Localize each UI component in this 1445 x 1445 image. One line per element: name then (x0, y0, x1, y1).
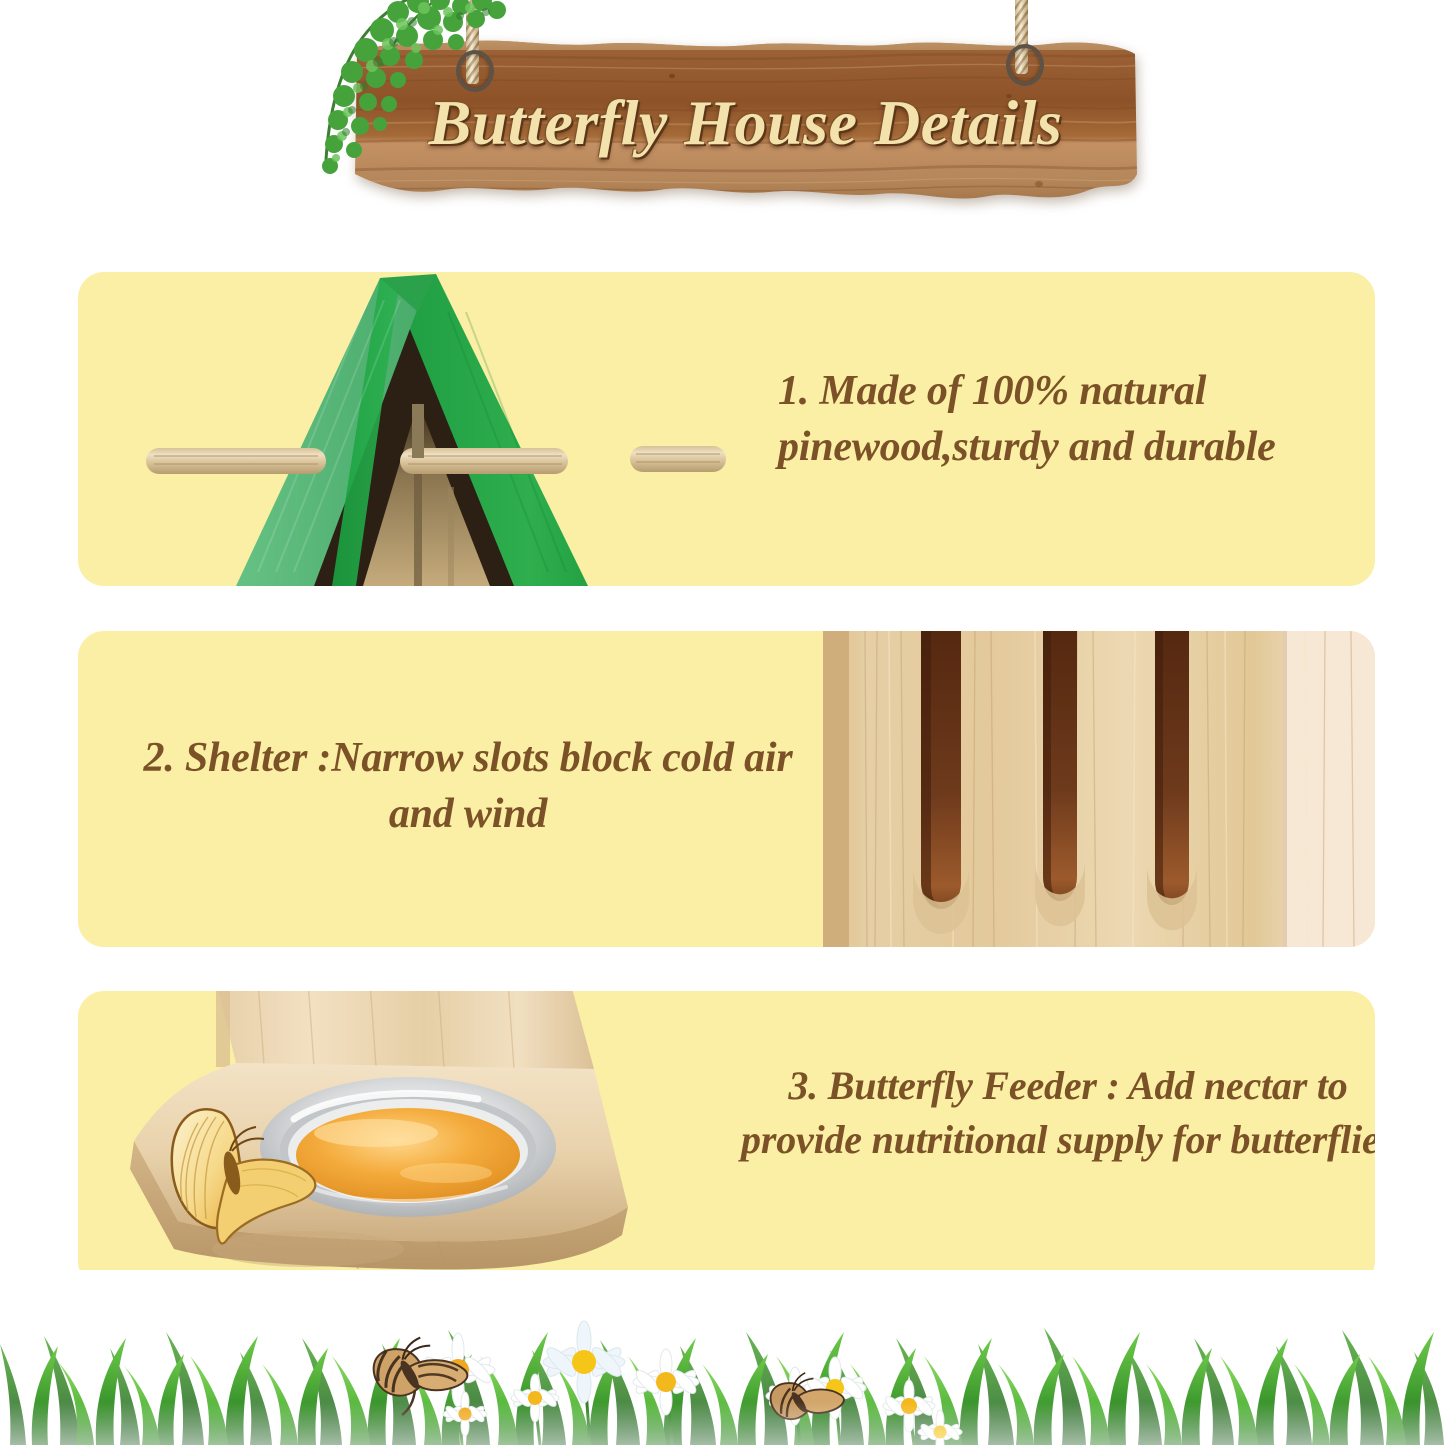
panel-3-text: 3. Butterfly Feeder : Add nectar to prov… (738, 1059, 1375, 1168)
grass-meadow-strip (0, 1270, 1445, 1445)
narrow-slots-photo (805, 631, 1375, 947)
butterfly-feeder-dish-photo (108, 991, 728, 1287)
detail-panel-2: 2. Shelter :Narrow slots block cold air … (78, 631, 1375, 947)
panel-1-text: 1. Made of 100% natural pinewood,sturdy … (778, 364, 1375, 476)
detail-panel-1: 1. Made of 100% natural pinewood,sturdy … (78, 272, 1375, 586)
panel-2-text: 2. Shelter :Narrow slots block cold air … (138, 731, 798, 843)
page-title: Butterfly House Details (349, 86, 1142, 160)
green-a-frame-roof-photo (118, 272, 738, 586)
detail-panel-3: 3. Butterfly Feeder : Add nectar to prov… (78, 991, 1375, 1287)
header-banner: Butterfly House Details (0, 0, 1445, 250)
sign-grommet-right (1006, 44, 1044, 86)
